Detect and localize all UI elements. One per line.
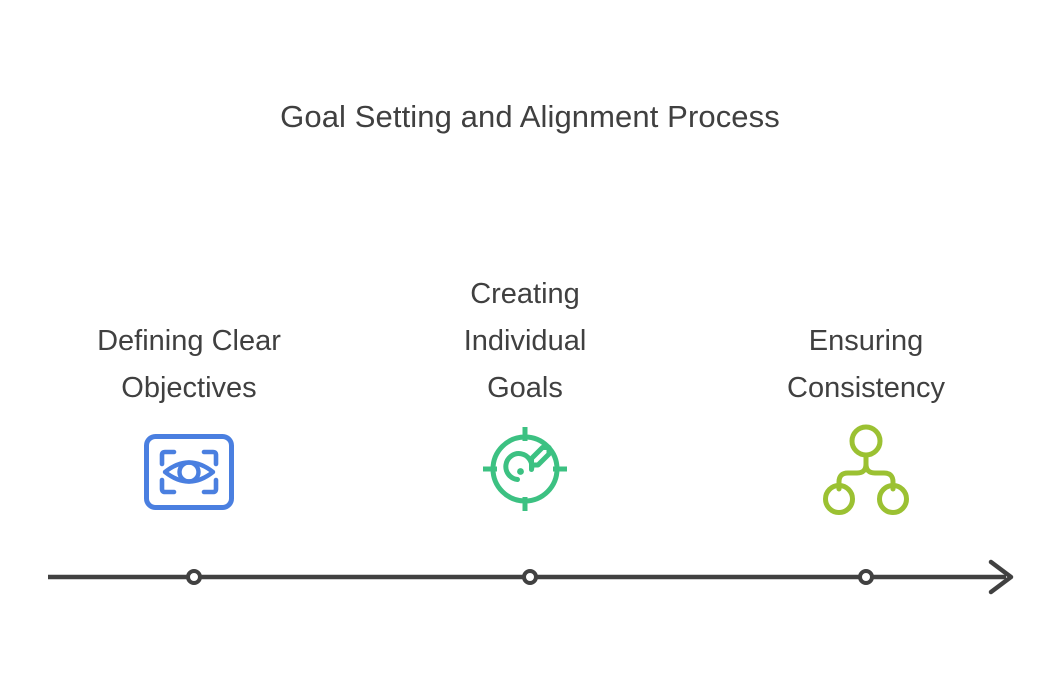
timeline-step-3[interactable]: Ensuring Consistency	[716, 280, 1016, 580]
target-gauge-icon	[479, 423, 571, 515]
timeline-node-3[interactable]	[860, 571, 872, 583]
step-1-icon-wrap	[143, 433, 235, 520]
hierarchy-icon	[820, 423, 912, 515]
timeline-step-1[interactable]: Defining Clear Objectives	[39, 280, 339, 580]
step-1-label: Defining Clear Objectives	[39, 318, 339, 412]
step-3-icon-wrap	[820, 423, 912, 520]
infographic-canvas: Goal Setting and Alignment Process Defin…	[0, 0, 1060, 682]
step-3-label: Ensuring Consistency	[716, 318, 1016, 412]
step-2-icon-wrap	[479, 423, 571, 520]
scan-eye-icon	[143, 433, 235, 515]
page-title: Goal Setting and Alignment Process	[0, 98, 1060, 137]
timeline-node-1[interactable]	[188, 571, 200, 583]
timeline-node-2[interactable]	[524, 571, 536, 583]
step-2-label: Creating Individual Goals	[375, 271, 675, 412]
timeline-step-2[interactable]: Creating Individual Goals	[375, 280, 675, 580]
timeline-axis	[0, 550, 1060, 610]
